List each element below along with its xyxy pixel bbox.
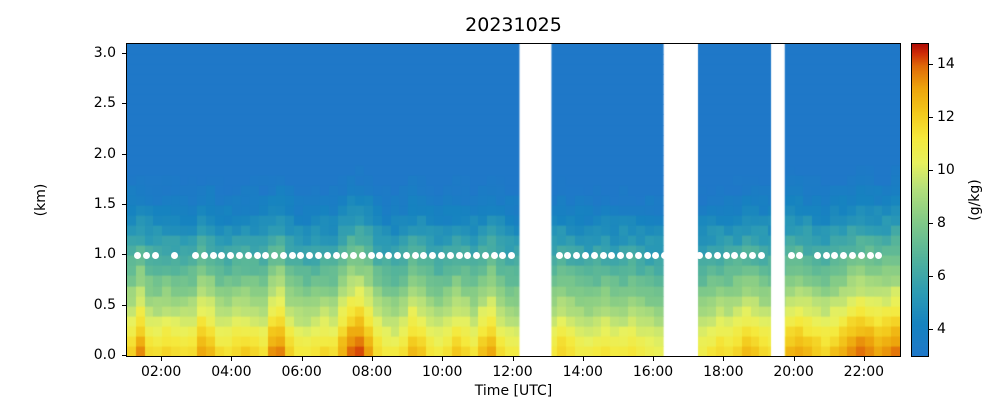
colorbar-tick-mark (929, 276, 933, 277)
colorbar-tick-mark (929, 64, 933, 65)
x-tick-mark (513, 357, 514, 361)
colorbar-tick-mark (929, 329, 933, 330)
y-tick-label: 1.0 (0, 247, 116, 261)
colorbar-tick-label: 8 (937, 216, 946, 230)
figure-canvas: 20231025 0.00.51.01.52.02.53.0 02:0004:0… (0, 0, 1000, 400)
x-tick-label: 12:00 (478, 364, 548, 380)
x-tick-label: 06:00 (267, 364, 337, 380)
x-tick-mark (794, 357, 795, 361)
y-tick-mark (122, 254, 126, 255)
colorbar-tick-label: 14 (937, 57, 955, 71)
x-tick-mark (723, 357, 724, 361)
y-tick-mark (122, 154, 126, 155)
y-tick-label: 1.5 (0, 197, 116, 211)
y-tick-mark (122, 103, 126, 104)
colorbar-tick-label: 6 (937, 269, 946, 283)
colorbar-tick-mark (929, 223, 933, 224)
x-tick-label: 08:00 (337, 364, 407, 380)
x-tick-mark (372, 357, 373, 361)
y-axis-label: (km) (34, 184, 48, 217)
colorbar-tick-label: 12 (937, 110, 955, 124)
x-tick-mark (231, 357, 232, 361)
x-tick-mark (583, 357, 584, 361)
x-tick-label: 16:00 (618, 364, 688, 380)
x-tick-label: 10:00 (407, 364, 477, 380)
x-tick-label: 14:00 (548, 364, 618, 380)
x-tick-label: 02:00 (126, 364, 196, 380)
colorbar-tick-mark (929, 117, 933, 118)
x-axis-label: Time [UTC] (126, 383, 901, 399)
heatmap-plot-area[interactable] (126, 43, 901, 357)
y-tick-mark (122, 305, 126, 306)
y-tick-label: 2.5 (0, 96, 116, 110)
y-tick-label: 3.0 (0, 46, 116, 60)
page-title: 20231025 (126, 14, 901, 36)
colorbar-tick-label: 10 (937, 163, 955, 177)
x-tick-label: 22:00 (829, 364, 899, 380)
x-tick-label: 18:00 (688, 364, 758, 380)
x-tick-mark (653, 357, 654, 361)
y-tick-mark (122, 355, 126, 356)
x-tick-mark (864, 357, 865, 361)
colorbar-tick-mark (929, 170, 933, 171)
x-tick-mark (302, 357, 303, 361)
x-tick-label: 04:00 (196, 364, 266, 380)
y-tick-label: 2.0 (0, 147, 116, 161)
colorbar-gradient (912, 44, 928, 356)
y-tick-mark (122, 204, 126, 205)
mixing-ratio-heatmap (127, 44, 900, 356)
x-tick-mark (161, 357, 162, 361)
y-tick-label: 0.5 (0, 298, 116, 312)
x-tick-label: 20:00 (759, 364, 829, 380)
colorbar[interactable] (911, 43, 929, 357)
colorbar-tick-label: 4 (937, 322, 946, 336)
colorbar-label: (g/kg) (968, 179, 982, 221)
x-tick-mark (442, 357, 443, 361)
y-tick-label: 0.0 (0, 348, 116, 362)
y-tick-mark (122, 53, 126, 54)
